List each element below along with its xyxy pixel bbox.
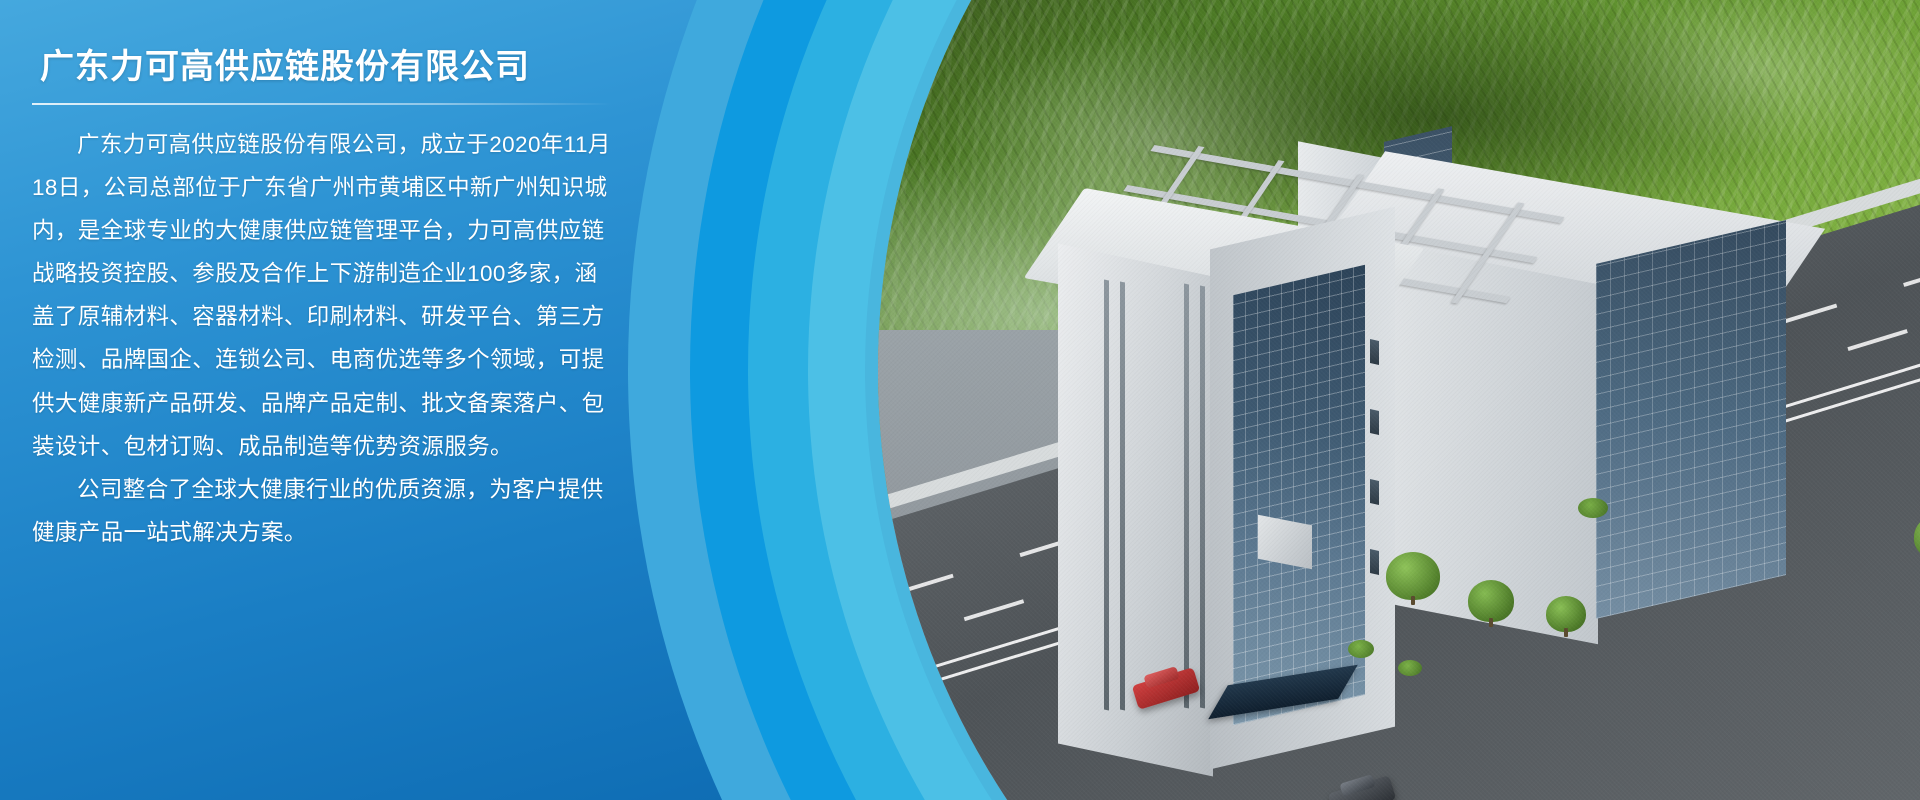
company-intro-banner: 广东力可高供应链股份有限公司 广东力可高供应链股份有限公司，成立于2020年11…	[0, 0, 1920, 800]
road-dash	[964, 599, 1024, 621]
road-dash	[1847, 329, 1907, 351]
text-panel: 广东力可高供应链股份有限公司 广东力可高供应链股份有限公司，成立于2020年11…	[0, 0, 640, 800]
title-separator-line	[32, 103, 612, 105]
tower-window	[1370, 339, 1379, 365]
page-title: 广东力可高供应链股份有限公司	[32, 46, 612, 89]
tower-window	[1370, 549, 1379, 575]
tree	[1546, 596, 1586, 632]
tower-fin	[1104, 279, 1109, 710]
shrub	[1348, 640, 1374, 658]
tree	[1468, 580, 1514, 622]
road-dash	[893, 574, 953, 596]
tower-fin	[1200, 285, 1205, 708]
building-photo	[878, 0, 1920, 800]
shrub	[1398, 660, 1422, 676]
intro-paragraph-2: 公司整合了全球大健康行业的优质资源，为客户提供健康产品一站式解决方案。	[32, 468, 612, 554]
road-dash	[1903, 265, 1920, 287]
tree	[1386, 552, 1440, 600]
building-photo-disc	[878, 0, 1920, 800]
tower-window	[1370, 409, 1379, 435]
rear-building-glass	[1596, 220, 1786, 619]
tower-window	[1370, 479, 1379, 505]
tower-curtain-wall	[1233, 265, 1365, 725]
tower-fin	[1120, 281, 1125, 710]
shrub	[1578, 498, 1608, 518]
intro-paragraph-1: 广东力可高供应链股份有限公司，成立于2020年11月18日，公司总部位于广东省广…	[32, 123, 612, 469]
intro-body: 广东力可高供应链股份有限公司，成立于2020年11月18日，公司总部位于广东省广…	[32, 123, 612, 555]
main-office-tower	[1058, 220, 1388, 780]
tower-fin	[1184, 283, 1189, 708]
